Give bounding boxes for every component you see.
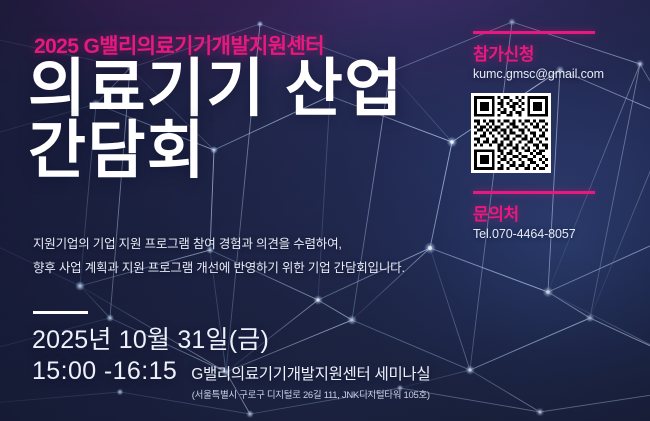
contact-section-divider xyxy=(473,191,595,194)
event-time: 15:00 -16:15 xyxy=(32,357,177,386)
description-line-2: 향후 사업 계획과 지원 프로그램 개선에 반영하기 위한 기업 간담회입니다. xyxy=(33,256,405,280)
title-line-2: 간담회 xyxy=(28,120,404,182)
contact-tel[interactable]: Tel.070-4464-8057 xyxy=(473,227,576,241)
apply-heading: 참가신청 xyxy=(473,40,534,65)
title-line-1: 의료기기 산업 xyxy=(28,58,404,120)
event-venue-address: (서울특별시 구로구 디지털로 26길 111, JNK디지털타워 105호) xyxy=(191,387,430,401)
event-date: 2025년 10월 31일(금) xyxy=(32,320,269,356)
apply-section-divider xyxy=(473,31,595,34)
event-time-venue: 15:00 -16:15 G밸리의료기기개발지원센터 세미나실 (서울특별시 구… xyxy=(32,357,430,401)
qr-code-icon xyxy=(474,96,548,170)
qr-code[interactable] xyxy=(471,93,551,173)
date-divider xyxy=(33,311,88,314)
apply-email[interactable]: kumc.gmsc@gmail.com xyxy=(473,67,604,81)
poster-description: 지원기업의 기업 지원 프로그램 참여 경험과 의견을 수렴하여, 향후 사업 … xyxy=(33,232,405,281)
event-poster: 2025 G밸리의료기기개발지원센터 의료기기 산업 간담회 지원기업의 기업 … xyxy=(0,0,650,421)
event-venue-name: G밸리의료기기개발지원센터 세미나실 xyxy=(191,362,430,384)
description-line-1: 지원기업의 기업 지원 프로그램 참여 경험과 의견을 수렴하여, xyxy=(33,232,405,256)
page-title: 의료기기 산업 간담회 xyxy=(28,58,404,183)
contact-heading: 문의처 xyxy=(473,200,519,225)
